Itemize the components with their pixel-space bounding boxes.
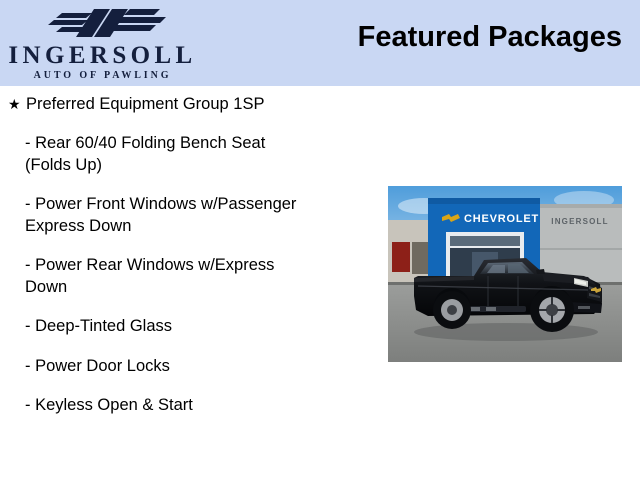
list-item: - Rear 60/40 Folding Bench Seat (Folds U… (25, 115, 355, 176)
package-list: ★ Preferred Equipment Group 1SP - Rear 6… (0, 86, 380, 417)
brand-tagline: AUTO OF PAWLING (0, 71, 205, 81)
page-header: INGERSOLL AUTO OF PAWLING Featured Packa… (0, 0, 640, 86)
package-group-heading: ★ Preferred Equipment Group 1SP (0, 86, 380, 115)
list-item: - Deep-Tinted Glass (25, 298, 355, 338)
brand-wordmark: INGERSOLL (0, 43, 205, 68)
list-item: - Power Front Windows w/Passenger Expres… (25, 176, 355, 237)
package-group-name: Preferred Equipment Group 1SP (26, 94, 264, 115)
winged-emblem-icon (48, 6, 168, 40)
page-title: Featured Packages (358, 21, 622, 54)
brand-logo: INGERSOLL AUTO OF PAWLING (0, 3, 205, 83)
list-item: - Keyless Open & Start (25, 377, 355, 417)
list-item: - Power Rear Windows w/Express Down (25, 237, 355, 298)
star-bullet-icon: ★ (8, 94, 26, 115)
vehicle-photo: INGERSOLL CHEVROLET (388, 186, 622, 362)
svg-text:CHEVROLET: CHEVROLET (464, 213, 539, 225)
list-item: - Power Door Locks (25, 338, 355, 378)
svg-text:INGERSOLL: INGERSOLL (551, 217, 608, 226)
